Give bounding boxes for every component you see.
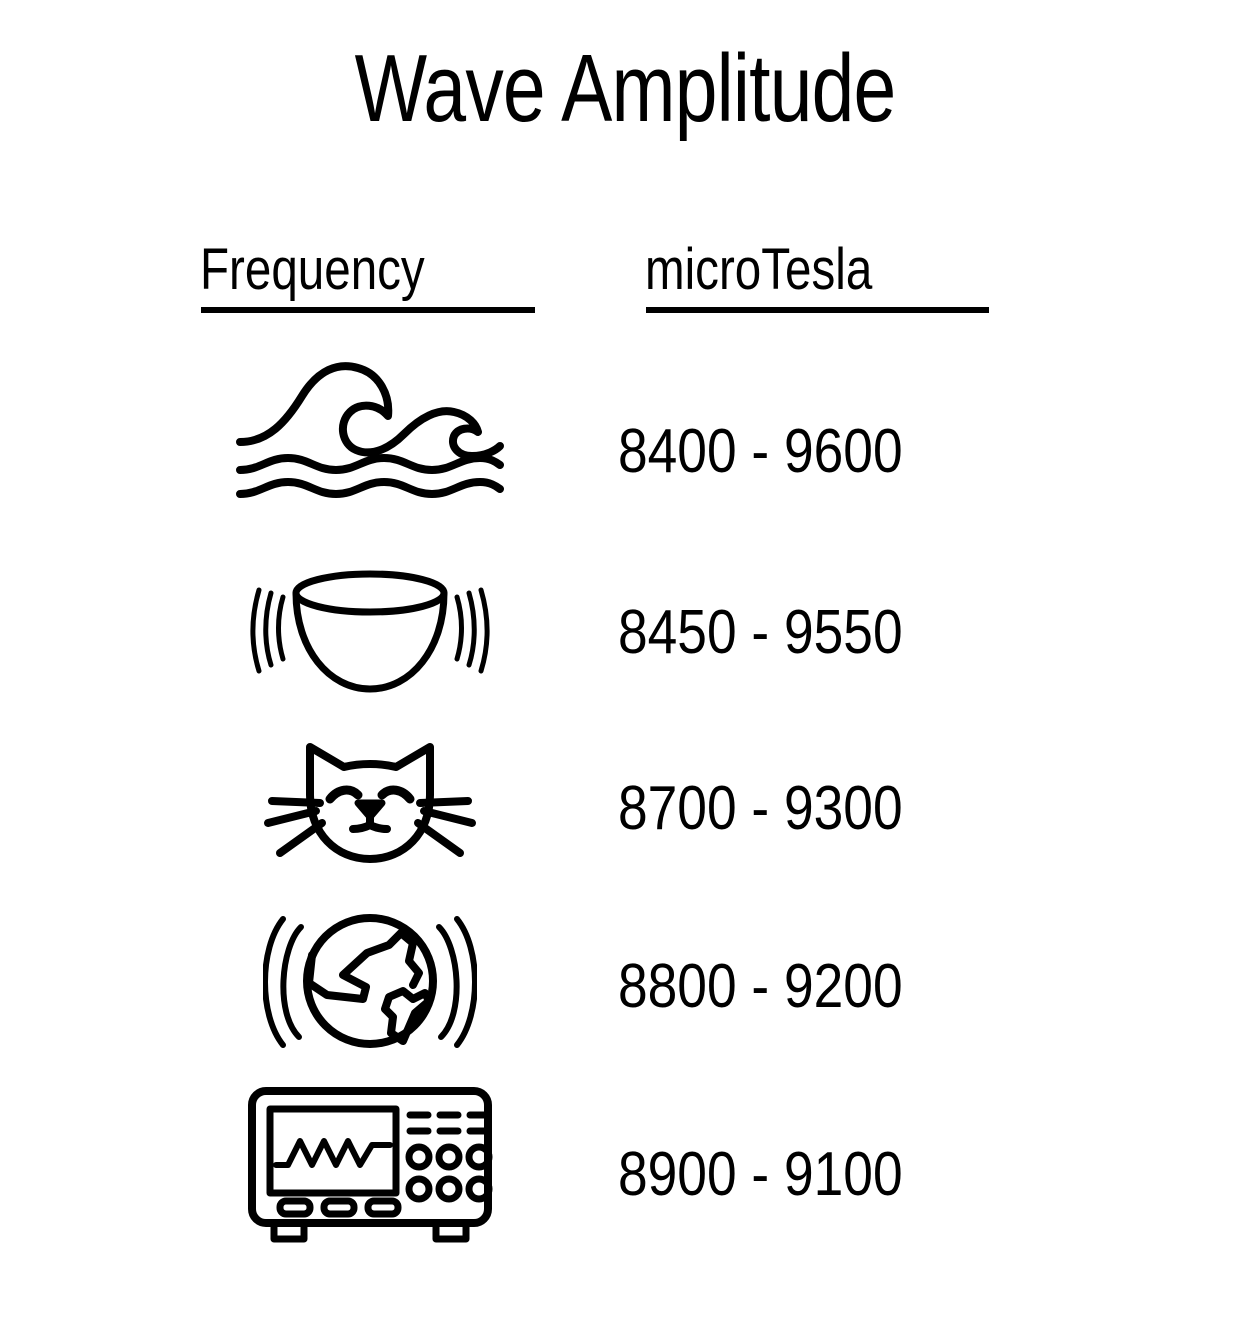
table-header-row: Frequency microTesla xyxy=(0,237,1250,317)
purring-cat-icon xyxy=(258,733,482,875)
vibrating-earth-icon xyxy=(263,905,477,1057)
table-row: 8800 - 9200 xyxy=(0,898,1250,1063)
frequency-cell xyxy=(200,355,540,505)
microtesla-value: 8700 - 9300 xyxy=(618,774,903,844)
column-header-microtesla-underline xyxy=(646,307,989,313)
amplitude-table: Frequency microTesla 8400 - 9600 xyxy=(0,0,1250,1341)
table-row: 8400 - 9600 xyxy=(0,355,1250,505)
frequency-cell xyxy=(200,898,540,1063)
microtesla-value: 8900 - 9100 xyxy=(618,1140,903,1210)
column-header-frequency: Frequency xyxy=(200,237,425,303)
microtesla-value: 8400 - 9600 xyxy=(618,417,903,487)
table-row: 8450 - 9550 xyxy=(0,560,1250,700)
column-header-frequency-underline xyxy=(201,307,535,313)
microtesla-value: 8450 - 9550 xyxy=(618,598,903,668)
oscilloscope-icon xyxy=(242,1083,498,1249)
ocean-waves-icon xyxy=(234,360,506,500)
frequency-cell xyxy=(200,728,540,880)
table-row: 8700 - 9300 xyxy=(0,728,1250,880)
column-header-microtesla: microTesla xyxy=(645,237,872,303)
frequency-cell xyxy=(200,1078,540,1253)
singing-bowl-icon xyxy=(247,565,493,695)
microtesla-value: 8800 - 9200 xyxy=(618,952,903,1022)
frequency-cell xyxy=(200,560,540,700)
table-row: 8900 - 9100 xyxy=(0,1078,1250,1253)
